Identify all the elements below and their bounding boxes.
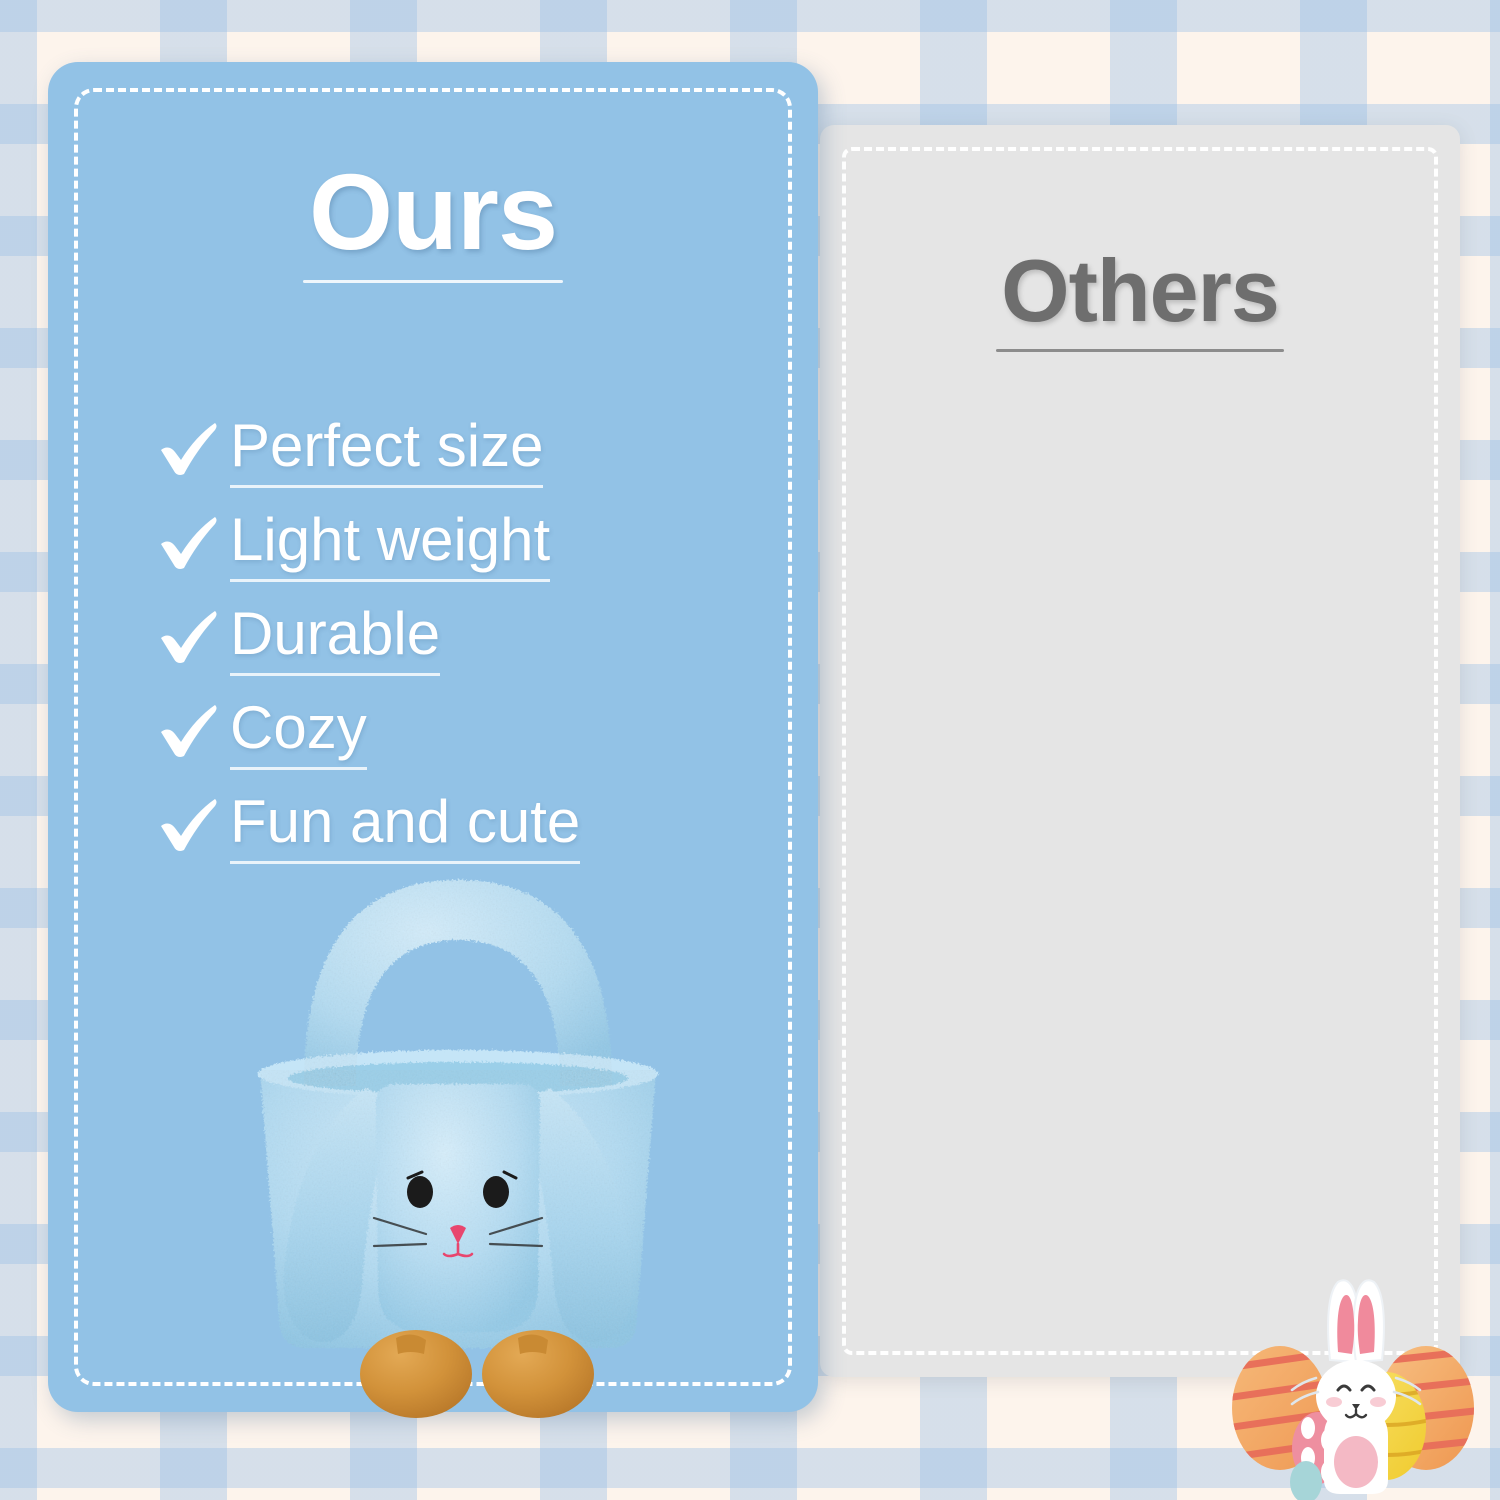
check-icon (158, 796, 220, 854)
list-item: Fun and cute (158, 790, 580, 864)
others-heading: Others (1001, 247, 1279, 335)
list-item-label: Perfect size (230, 414, 543, 488)
list-item-label: Durable (230, 602, 440, 676)
ours-heading-underline (303, 280, 563, 283)
ours-heading: Ours (309, 158, 557, 266)
list-item-label: Cozy (230, 696, 367, 770)
easter-bunny-with-eggs-decoration (1208, 1250, 1498, 1500)
ours-comparison-card: Ours Perfect size Light weight Durable (48, 62, 818, 1412)
check-icon (158, 702, 220, 760)
list-item: Perfect size (158, 414, 580, 488)
check-icon (158, 514, 220, 572)
list-item: Light weight (158, 508, 580, 582)
others-heading-group: Others (820, 247, 1460, 352)
list-item-label: Light weight (230, 508, 550, 582)
list-item: Durable (158, 602, 580, 676)
check-icon (158, 420, 220, 478)
blue-plush-bunny-basket-image (198, 862, 718, 1462)
others-heading-underline (996, 349, 1284, 352)
ours-heading-group: Ours (48, 158, 818, 283)
ours-feature-list: Perfect size Light weight Durable Cozy F… (158, 414, 580, 884)
list-item: Cozy (158, 696, 580, 770)
list-item-label: Fun and cute (230, 790, 580, 864)
others-comparison-card: Others (820, 125, 1460, 1377)
check-icon (158, 608, 220, 666)
